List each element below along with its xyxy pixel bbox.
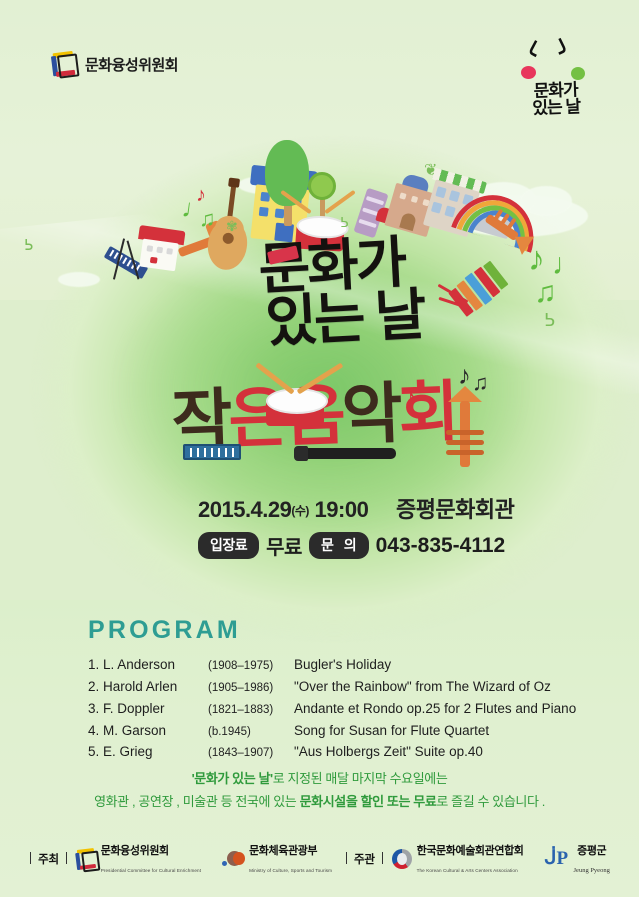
footer-org-name-en: Presidential Committee for Cultural Enri… [101, 868, 201, 873]
program-years: (1821–1883) [208, 701, 294, 720]
fee-value: 무료 [266, 531, 302, 560]
event-info: 2015.4.29(수) 19:00 증평문화회관 입장료 무료 문 의 043… [198, 492, 618, 560]
cloud-icon [520, 186, 572, 216]
notice-line-2-c: 로 즐길 수 있습니다 . [436, 794, 545, 809]
program-work: Andante et Rondo op.25 for 2 Flutes and … [294, 698, 588, 720]
program-years: (1843–1907) [208, 744, 294, 763]
notice-line-2: 영화관 , 공연장 , 미술관 등 전국에 있는 문화시설을 할인 또는 무료로… [0, 791, 639, 814]
program-years: (b.1945) [208, 723, 294, 742]
music-note-icon: ♪ [458, 362, 471, 388]
program-work: "Over the Rainbow" from The Wizard of Oz [294, 676, 588, 698]
contact-label-badge: 문 의 [309, 532, 369, 559]
footer-org-committee: 문화융성위원회 Presidential Committee for Cultu… [76, 841, 201, 878]
sprout-icon: ᕊ [24, 236, 33, 254]
program-composer: 3. F. Doppler [88, 698, 208, 720]
notice-line-1-rest: 로 지정된 매달 마지막 수요일에는 [273, 771, 448, 786]
program-work: Bugler's Holiday [294, 654, 588, 676]
event-weekday: (수) [291, 504, 309, 518]
program-heading: PROGRAM [88, 616, 588, 645]
program-years: (1905–1986) [208, 679, 294, 698]
footer-org-name: 문화체육관광부 [249, 845, 317, 857]
lollipop-tree-icon [308, 172, 336, 200]
footer-org-kocaca: 한국문화예술회관연합회 The Korean Cultural & Arts C… [392, 841, 524, 878]
footer: 주최 문화융성위원회 Presidential Committee for Cu… [0, 838, 639, 880]
sprout-icon: ᕊ [340, 214, 348, 231]
program-list: 1. L. Anderson(1908–1975)Bugler's Holida… [88, 654, 588, 763]
music-note-icon: ♪ [196, 185, 206, 205]
smile-face-icon: ╯ [554, 36, 577, 65]
program-years: (1908–1975) [208, 657, 294, 676]
cloud-icon [58, 272, 100, 287]
manage-label: 주관 [345, 851, 384, 867]
notice-line-2-b: 문화시설을 할인 또는 무료 [300, 794, 437, 809]
melodica-icon [183, 444, 241, 460]
smile-face-icon: ╰ [518, 38, 542, 67]
event-date: 2015.4.29 [198, 497, 291, 522]
program-row: 3. F. Doppler(1821–1883)Andante et Rondo… [88, 698, 588, 720]
notice-line-1: '문화가 있는 날'로 지정된 매달 마지막 수요일에는 [0, 768, 639, 791]
event-datetime-line: 2015.4.29(수) 19:00 증평문화회관 [198, 492, 618, 524]
book-mark-icon [51, 51, 78, 79]
music-note-icon: ♪ [404, 384, 417, 410]
notice-quoted: '문화가 있는 날' [192, 771, 273, 786]
footer-org-name-en: Jeung Pyeong [574, 867, 610, 874]
house-icon [137, 225, 182, 270]
program-composer: 2. Harold Arlen [88, 676, 208, 698]
program-row: 5. E. Grieg(1843–1907)"Aus Holbergs Zeit… [88, 741, 588, 763]
footer-org-name: 한국문화예술회관연합회 [417, 845, 524, 857]
green-dot-icon [571, 67, 585, 80]
footer-org-mcst: 문화체육관광부 Ministry of Culture, Sports and … [222, 841, 332, 878]
mcst-circles-icon [222, 851, 244, 867]
program-row: 2. Harold Arlen(1905–1986)"Over the Rain… [88, 676, 588, 698]
program-section: PROGRAM 1. L. Anderson(1908–1975)Bugler'… [88, 616, 588, 763]
committee-logo: 문화융성위원회 [52, 52, 178, 77]
notice-line-2-a: 영화관 , 공연장 , 미술관 등 전국에 있는 [94, 794, 300, 809]
footer-org-name-en: Ministry of Culture, Sports and Tourism [249, 868, 332, 873]
program-composer: 5. E. Grieg [88, 741, 208, 763]
fee-label-badge: 입장료 [198, 532, 259, 559]
program-work: Song for Susan for Flute Quartet [294, 720, 588, 742]
recorder-mouth-icon [294, 446, 308, 461]
notice-text: '문화가 있는 날'로 지정된 매달 마지막 수요일에는 영화관 , 공연장 ,… [0, 768, 639, 814]
poster-canvas: 문화융성위원회 ╰ ╯ 문화가 있는 날 ♩ ♪ ♫ [0, 0, 639, 897]
footer-org-jeungpyeong: ᒎP 증평군 Jeung Pyeong [545, 841, 610, 878]
event-venue: 증평문화회관 [396, 497, 514, 522]
program-row: 1. L. Anderson(1908–1975)Bugler's Holida… [88, 654, 588, 676]
contact-phone: 043-835-4112 [376, 534, 506, 558]
program-work: "Aus Holbergs Zeit" Suite op.40 [294, 741, 588, 763]
sprout-icon: ✾ [226, 218, 238, 235]
host-label: 주최 [29, 851, 68, 867]
trumpet-icon [448, 386, 482, 470]
red-dot-icon [521, 66, 536, 79]
program-composer: 1. L. Anderson [88, 654, 208, 676]
recorder-icon [300, 448, 396, 459]
footer-org-name-en: The Korean Cultural & Arts Centers Assoc… [417, 868, 518, 873]
subtitle-char: 악 [341, 380, 400, 448]
footer-org-name: 문화융성위원회 [101, 845, 169, 857]
jeungpyeong-jp-icon: ᒎP [545, 849, 569, 869]
program-composer: 4. M. Garson [88, 720, 208, 742]
footer-org-name: 증평군 [577, 845, 606, 857]
brand-logo-label: 문화가 있는 날 [512, 81, 599, 119]
page-title: 문화가 있는 날 [257, 228, 562, 349]
program-row: 4. M. Garson(b.1945)Song for Susan for F… [88, 720, 588, 742]
sprout-icon: ❦ [424, 160, 437, 180]
brand-logo: ╰ ╯ 문화가 있는 날 [513, 38, 599, 122]
snare-drum-icon [264, 388, 326, 428]
committee-logo-label: 문화융성위원회 [85, 54, 178, 75]
event-time: 19:00 [315, 497, 369, 522]
event-contact-line: 입장료 무료 문 의 043-835-4112 [198, 531, 618, 560]
book-mark-icon [75, 847, 97, 870]
kocaca-swirl-icon [392, 849, 412, 869]
